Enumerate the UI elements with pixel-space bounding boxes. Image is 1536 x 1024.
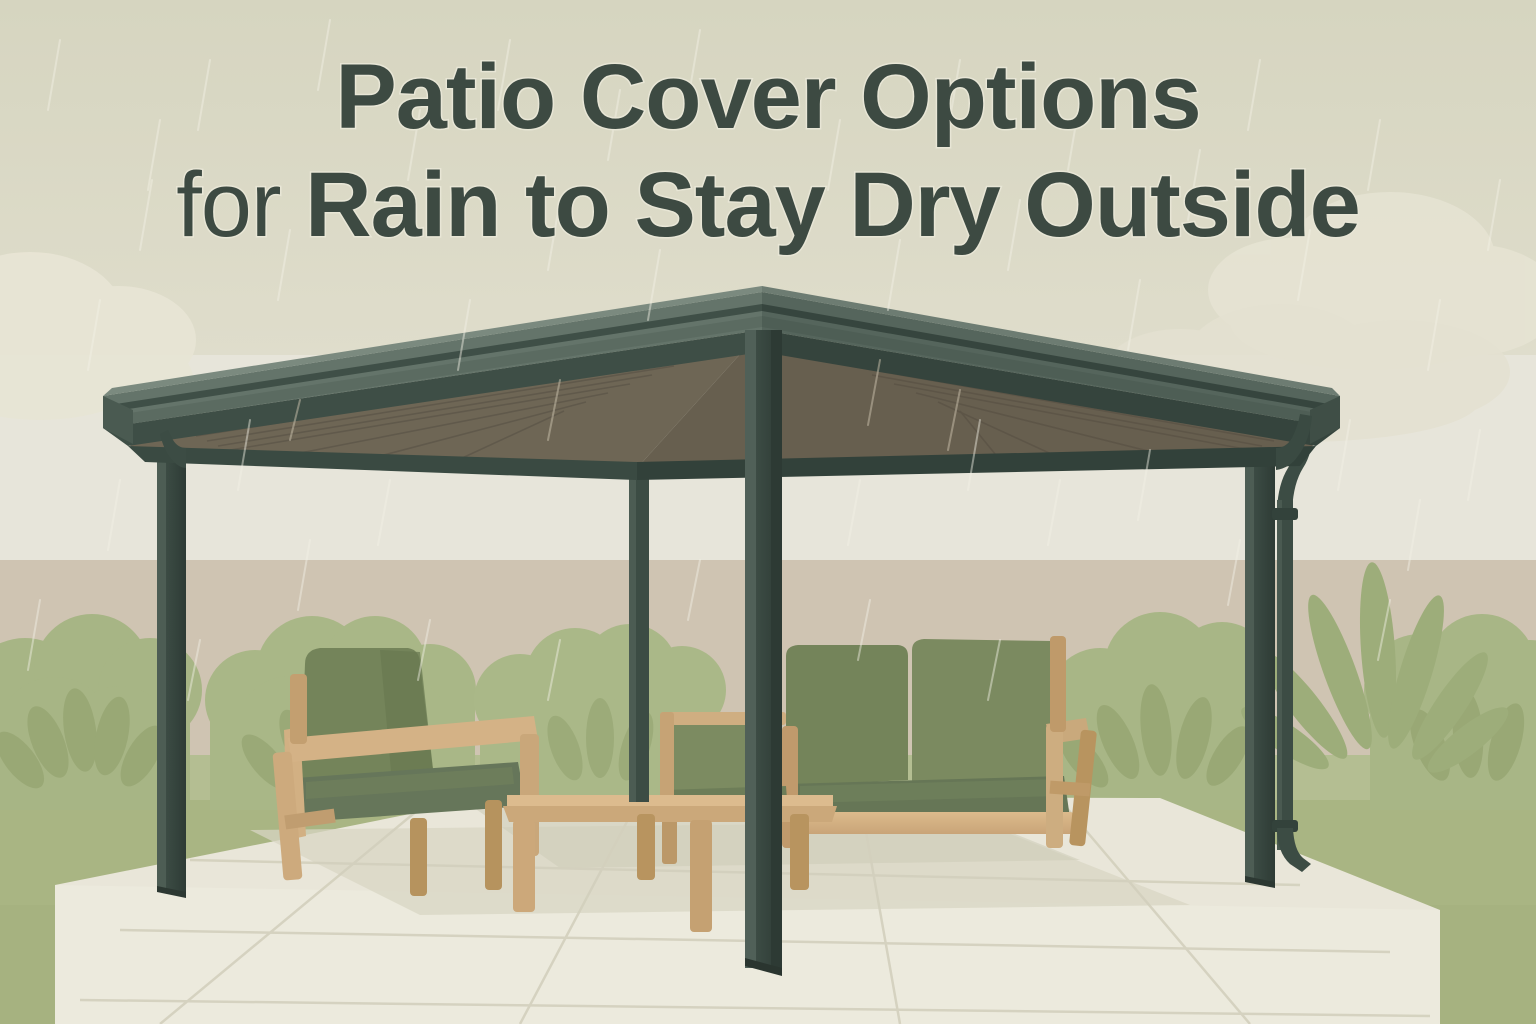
title-line-2: for Rain to Stay Dry Outside	[176, 154, 1360, 256]
sofa-back-rail	[1050, 636, 1066, 732]
sofa-back-cushion-right	[912, 639, 1062, 782]
downspout-bracket-upper	[1272, 508, 1298, 520]
sofa-arm-brace	[1050, 781, 1091, 797]
post-right	[1245, 447, 1275, 888]
sofa-back-cushion-left	[786, 645, 908, 786]
armchair-leg-back-right	[485, 800, 502, 890]
title-line-2-bold: Rain to Stay Dry Outside	[305, 154, 1360, 256]
table-leg-back-left	[637, 814, 655, 880]
table-leg-front-left	[513, 820, 535, 912]
post-left	[157, 447, 186, 898]
post-front	[745, 330, 782, 976]
armchair-back-post	[290, 674, 307, 744]
table-leg-back-right	[790, 814, 809, 890]
table-top-bevel	[503, 806, 837, 822]
armchair-leg-back-left	[410, 818, 427, 896]
patio-illustration: Patio Cover Options for Rain to Stay Dry…	[0, 0, 1536, 1024]
downspout-pipe-highlight	[1277, 500, 1282, 850]
post-back	[629, 468, 649, 802]
illustration-canvas: Patio Cover Options for Rain to Stay Dry…	[0, 0, 1536, 1024]
table-leg-front-right	[690, 820, 712, 932]
title-line-1: Patio Cover Options	[335, 46, 1200, 148]
title-line-2-light: for	[176, 154, 305, 256]
